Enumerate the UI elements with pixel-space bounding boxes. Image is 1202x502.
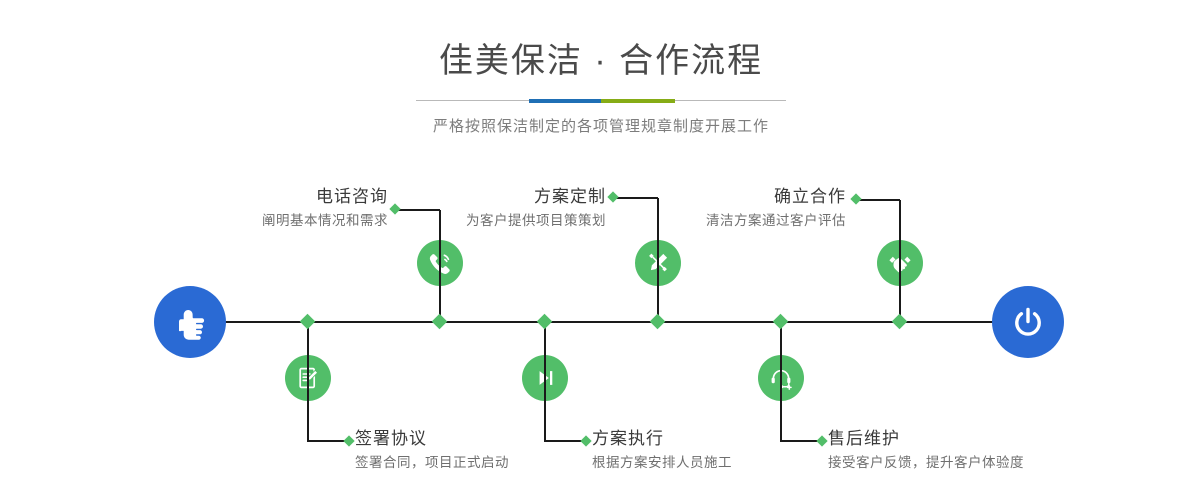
axis-diamond-bottom-2 [537,314,553,330]
connector-leader-top-3 [858,199,900,201]
leader-diamond-bottom-1 [343,435,354,446]
step-title: 方案定制 [340,186,606,208]
page-header: 佳美保洁 · 合作流程 严格按照保洁制定的各项管理规章制度开展工作 [0,0,1202,136]
axis-diamond-top-2 [650,314,666,330]
step-label-top-3: 确立合作 清洁方案通过客户评估 [580,186,846,231]
connector-stem-bottom-3 [780,322,782,441]
axis-diamond-top-1 [432,314,448,330]
axis-diamond-top-3 [892,314,908,330]
connector-stem-top-3 [899,200,901,322]
timeline-end-node[interactable] [992,286,1064,358]
divider-segment-blue [529,99,601,103]
title-divider [416,99,786,103]
pointing-hand-icon [170,302,210,342]
axis-diamond-bottom-3 [773,314,789,330]
step-title: 售后维护 [828,428,1128,450]
axis-diamond-bottom-1 [300,314,316,330]
step-desc: 接受客户反馈，提升客户体验度 [828,453,1128,473]
power-icon [1008,302,1048,342]
connector-stem-bottom-1 [307,322,309,441]
flow-diagram-page: 佳美保洁 · 合作流程 严格按照保洁制定的各项管理规章制度开展工作 [0,0,1202,502]
step-label-bottom-3: 售后维护 接受客户反馈，提升客户体验度 [828,428,1128,473]
page-subtitle: 严格按照保洁制定的各项管理规章制度开展工作 [0,115,1202,136]
leader-diamond-top-3 [850,193,861,204]
step-label-top-2: 方案定制 为客户提供项目策策划 [340,186,606,231]
timeline-start-node[interactable] [154,286,226,358]
step-title: 确立合作 [580,186,846,208]
step-desc: 为客户提供项目策策划 [340,211,606,231]
divider-segment-green [601,99,675,103]
page-title: 佳美保洁 · 合作流程 [0,0,1202,83]
connector-stem-bottom-2 [544,322,546,441]
step-desc: 清洁方案通过客户评估 [580,211,846,231]
